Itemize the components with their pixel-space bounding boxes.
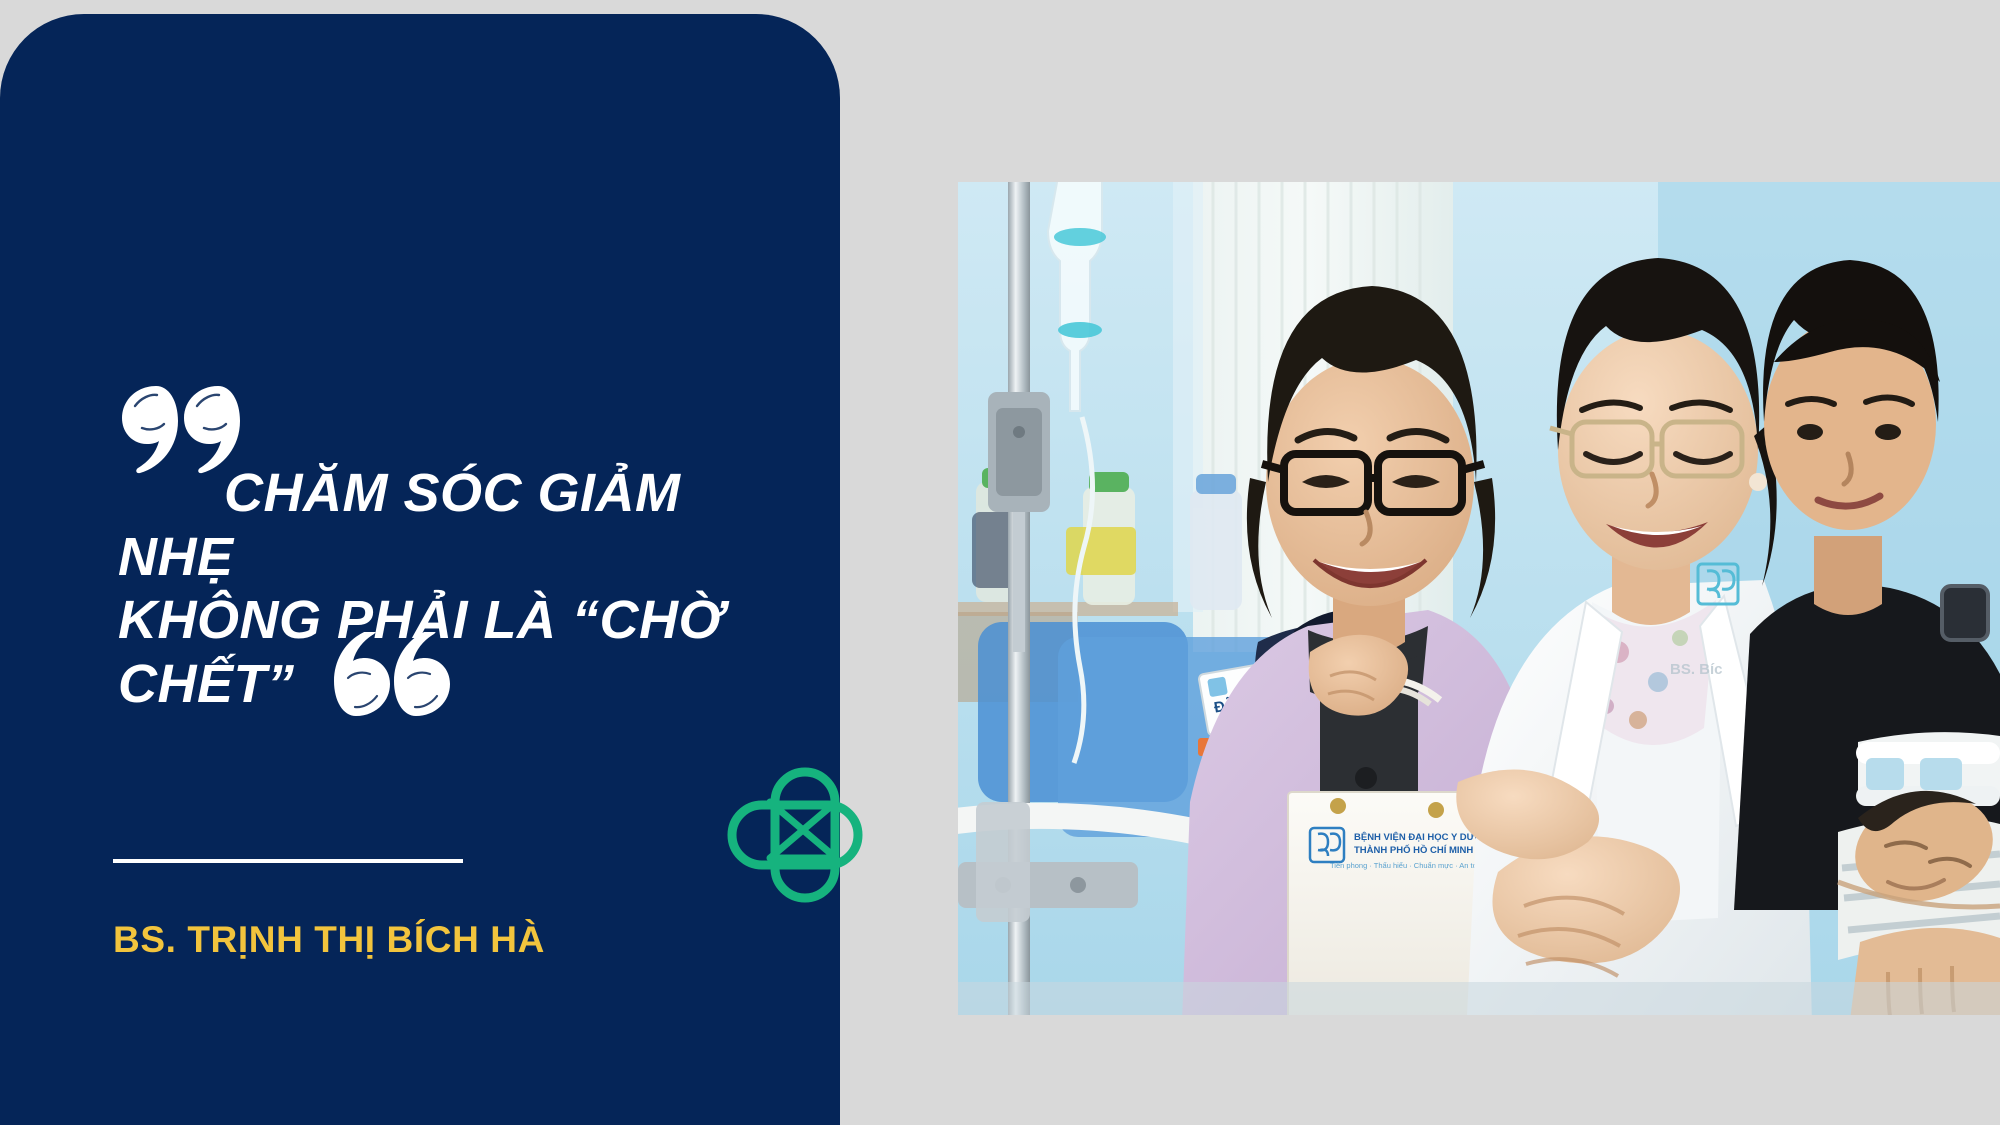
quote-block: CHĂM SÓC GIẢM NHẸ KHÔNG PHẢI LÀ “CHỜ CHẾ… <box>118 462 818 717</box>
byline-divider <box>113 859 463 863</box>
medical-cross-logo-icon <box>700 740 890 930</box>
poster-canvas: CHĂM SÓC GIẢM NHẸ KHÔNG PHẢI LÀ “CHỜ CHẾ… <box>0 0 2000 1125</box>
svg-text:Tiên phong · Thấu hiểu · Chuẩn: Tiên phong · Thấu hiểu · Chuẩn mực · An … <box>1330 861 1485 870</box>
svg-text:BS. Bíc: BS. Bíc <box>1670 661 1723 678</box>
hospital-photo: Hai nữ nhân viên y tế mỉm cười trao túi … <box>958 182 2000 1015</box>
headline-line-3: CHẾT” <box>118 654 295 714</box>
byline-author: BS. TRỊNH THỊ BÍCH HÀ <box>113 919 545 961</box>
headline-line-2: KHÔNG PHẢI LÀ “CHỜ <box>118 590 724 650</box>
headline-line-1: CHĂM SÓC GIẢM NHẸ <box>118 463 680 587</box>
svg-text:THÀNH PHỐ HỒ CHÍ MINH: THÀNH PHỐ HỒ CHÍ MINH <box>1354 844 1473 856</box>
svg-text:BỆNH VIỆN ĐẠI HỌC Y DƯỢC: BỆNH VIỆN ĐẠI HỌC Y DƯỢC <box>1354 831 1490 843</box>
quote-panel: CHĂM SÓC GIẢM NHẸ KHÔNG PHẢI LÀ “CHỜ CHẾ… <box>0 14 840 1125</box>
quote-headline: CHĂM SÓC GIẢM NHẸ KHÔNG PHẢI LÀ “CHỜ CHẾ… <box>118 462 808 717</box>
